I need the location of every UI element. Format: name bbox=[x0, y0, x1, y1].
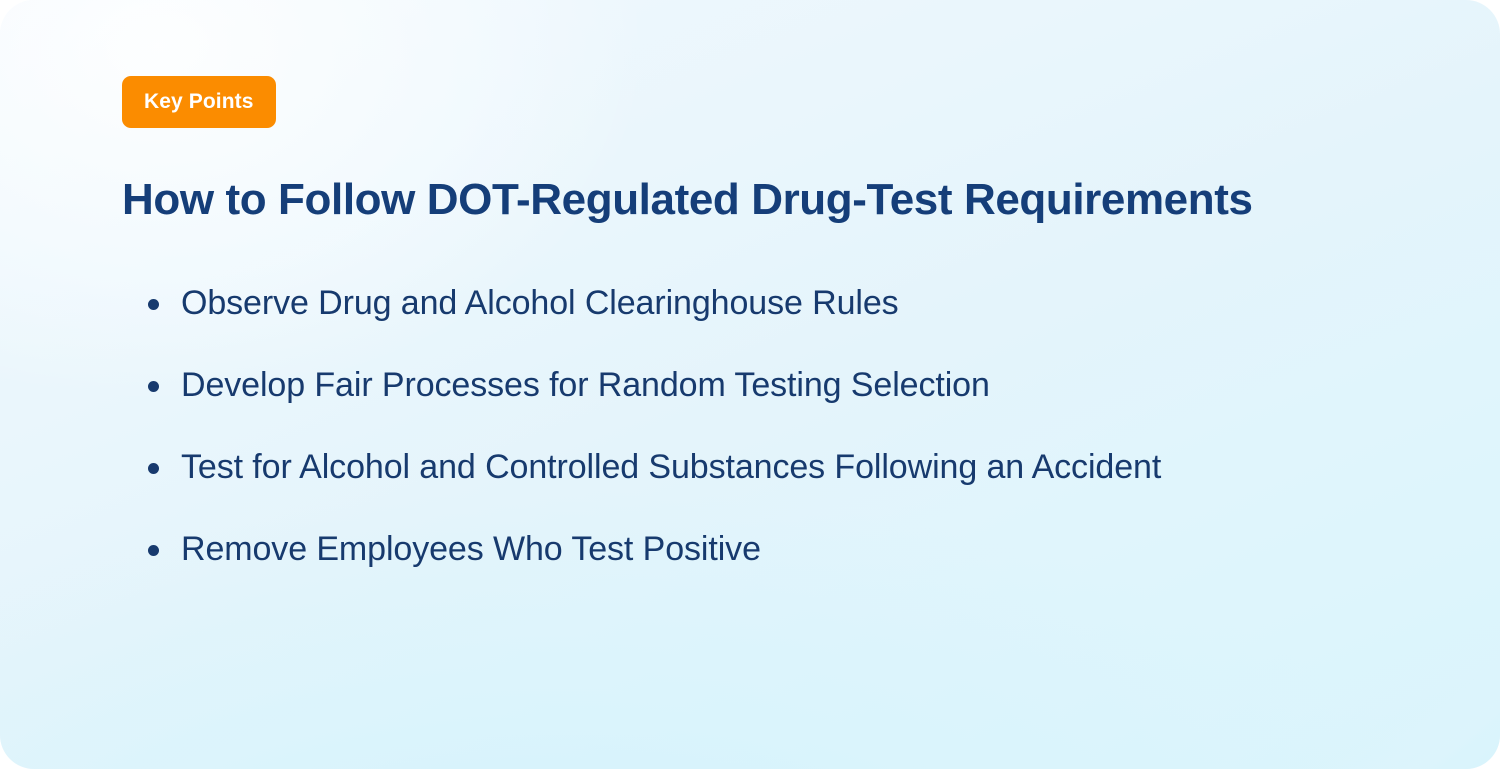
bullet-icon bbox=[148, 463, 159, 474]
bullet-icon bbox=[148, 299, 159, 310]
key-points-list: Observe Drug and Alcohol Clearinghouse R… bbox=[122, 278, 1282, 575]
list-item-label: Test for Alcohol and Controlled Substanc… bbox=[181, 448, 1161, 486]
list-item: Test for Alcohol and Controlled Substanc… bbox=[122, 442, 1282, 493]
bullet-icon bbox=[148, 545, 159, 556]
key-points-card: Key Points How to Follow DOT-Regulated D… bbox=[0, 0, 1500, 769]
list-item: Remove Employees Who Test Positive bbox=[122, 524, 1282, 575]
key-points-badge: Key Points bbox=[122, 76, 276, 128]
list-item-label: Remove Employees Who Test Positive bbox=[181, 530, 761, 568]
list-item: Observe Drug and Alcohol Clearinghouse R… bbox=[122, 278, 1282, 329]
list-item-label: Develop Fair Processes for Random Testin… bbox=[181, 366, 990, 404]
card-content: Key Points How to Follow DOT-Regulated D… bbox=[0, 0, 1500, 575]
list-item-label: Observe Drug and Alcohol Clearinghouse R… bbox=[181, 284, 899, 322]
page-title: How to Follow DOT-Regulated Drug-Test Re… bbox=[122, 176, 1500, 224]
list-item: Develop Fair Processes for Random Testin… bbox=[122, 360, 1282, 411]
bullet-icon bbox=[148, 381, 159, 392]
